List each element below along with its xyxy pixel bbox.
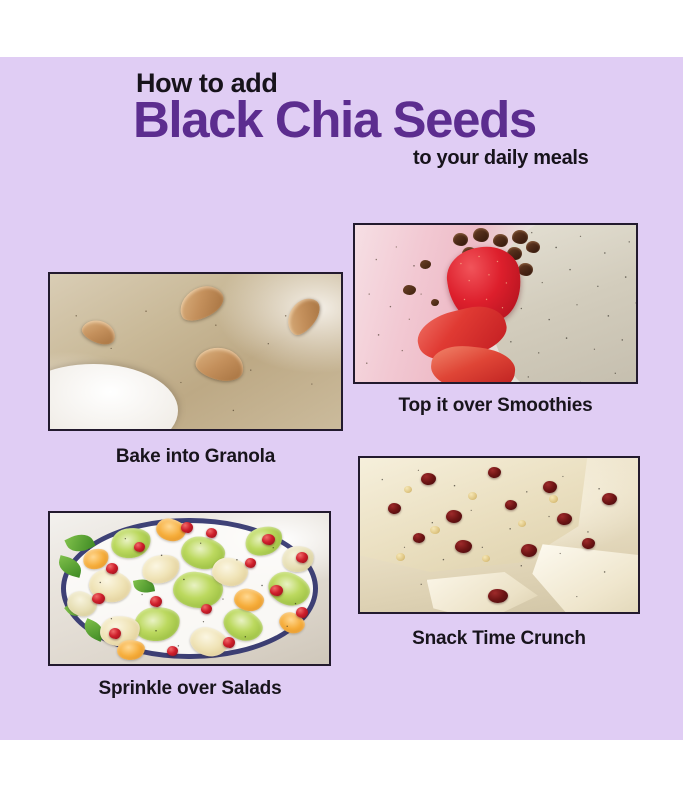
granola-photo-frame — [48, 272, 343, 431]
caption-snack-time-crunch: Snack Time Crunch — [358, 628, 640, 650]
crumb — [430, 526, 440, 534]
crumb — [518, 520, 526, 527]
caption-bake-into-granola: Bake into Granola — [48, 446, 343, 468]
cocoa-fleck — [420, 260, 431, 269]
header-subline: to your daily meals — [413, 147, 588, 170]
dried-cranberry — [505, 500, 517, 510]
chocolate-chip — [493, 234, 508, 247]
chocolate-chip — [453, 233, 468, 246]
crumb — [549, 495, 558, 503]
cocoa-fleck — [431, 299, 439, 306]
page-title: Black Chia Seeds — [133, 94, 536, 145]
caption-sprinkle-over-salads: Sprinkle over Salads — [40, 678, 340, 700]
dried-cranberry — [488, 589, 508, 603]
smoothie-photo-frame — [353, 223, 638, 384]
smoothie-bowl-photo — [355, 225, 636, 382]
chocolate-chip — [518, 263, 533, 276]
infographic-canvas: How to add Black Chia Seeds to your dail… — [0, 0, 683, 800]
chia-seed-sprinkle — [50, 513, 329, 664]
caption-top-it-over-smoothies: Top it over Smoothies — [353, 395, 638, 417]
dried-cranberry — [455, 540, 472, 553]
chia-bark-photo — [360, 458, 638, 612]
fruit-salad-photo — [50, 513, 329, 664]
chocolate-chip — [526, 241, 540, 253]
chocolate-chip — [473, 228, 489, 242]
chocolate-chip — [512, 230, 528, 244]
header: How to add Black Chia Seeds to your dail… — [0, 57, 683, 197]
salad-photo-frame — [48, 511, 331, 666]
cocoa-fleck — [403, 285, 416, 295]
granola-photo — [50, 274, 341, 429]
crunch-photo-frame — [358, 456, 640, 614]
dried-cranberry — [388, 503, 401, 514]
